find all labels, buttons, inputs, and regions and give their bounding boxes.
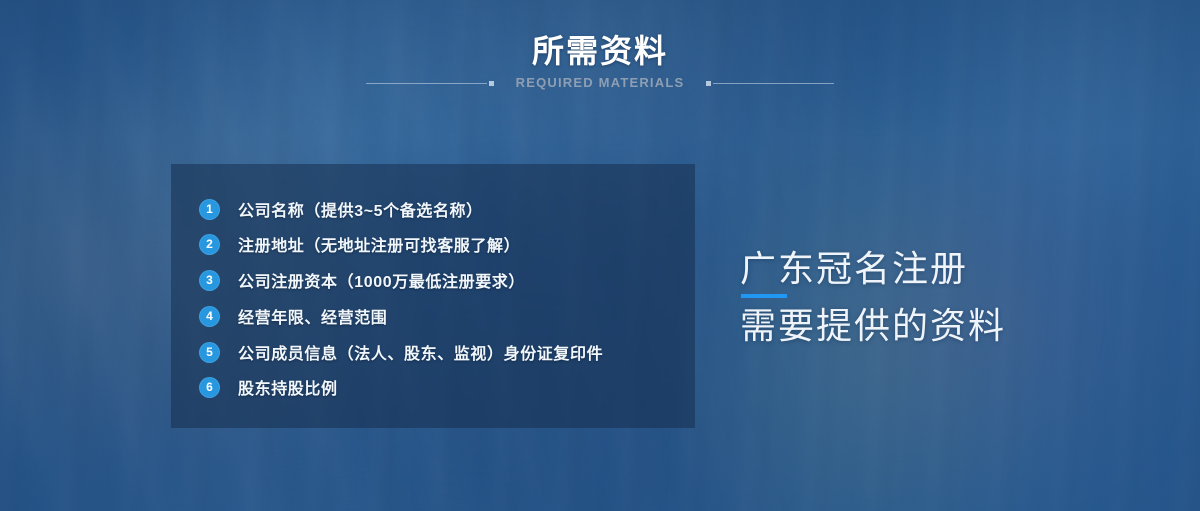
rule-dot-left: [489, 81, 494, 86]
page-subtitle: REQUIRED MATERIALS: [494, 73, 707, 93]
list-number-badge: 3: [199, 270, 220, 291]
accent-bar: [741, 294, 787, 298]
list-item-label: 公司名称（提供3~5个备选名称）: [238, 197, 483, 221]
materials-panel: 1 公司名称（提供3~5个备选名称） 2 注册地址（无地址注册可找客服了解） 3…: [171, 164, 695, 428]
banner-root: 所需资料 REQUIRED MATERIALS 1 公司名称（提供3~5个备选名…: [0, 0, 1200, 511]
subtitle-row: REQUIRED MATERIALS: [0, 73, 1200, 93]
list-item-label: 注册地址（无地址注册可找客服了解）: [238, 232, 520, 256]
list-number-badge: 5: [199, 342, 220, 363]
title-rule-left: [366, 79, 494, 88]
right-heading-block: 广东冠名注册 需要提供的资料: [740, 248, 1160, 347]
title-rule-right: [706, 79, 834, 88]
list-item: 3 公司注册资本（1000万最低注册要求）: [199, 267, 525, 293]
list-item: 1 公司名称（提供3~5个备选名称）: [199, 196, 483, 222]
list-item-label: 公司注册资本（1000万最低注册要求）: [238, 268, 525, 292]
list-number-badge: 6: [199, 377, 220, 398]
list-number-badge: 4: [199, 306, 220, 327]
list-item-label: 经营年限、经营范围: [238, 304, 387, 328]
list-number-badge: 2: [199, 234, 220, 255]
list-item-label: 股东持股比例: [238, 375, 338, 399]
list-item: 6 股东持股比例: [199, 374, 338, 400]
right-heading-line1: 广东冠名注册: [740, 248, 1160, 290]
rule-dot-right: [706, 81, 711, 86]
rule-line-left: [366, 83, 487, 84]
rule-line-right: [713, 83, 834, 84]
list-item-label: 公司成员信息（法人、股东、监视）身份证复印件: [238, 340, 603, 364]
right-heading-line2: 需要提供的资料: [740, 305, 1160, 347]
page-title: 所需资料: [0, 31, 1200, 71]
list-item: 5 公司成员信息（法人、股东、监视）身份证复印件: [199, 339, 603, 365]
list-item: 4 经营年限、经营范围: [199, 303, 387, 329]
list-item: 2 注册地址（无地址注册可找客服了解）: [199, 231, 520, 257]
list-number-badge: 1: [199, 199, 220, 220]
